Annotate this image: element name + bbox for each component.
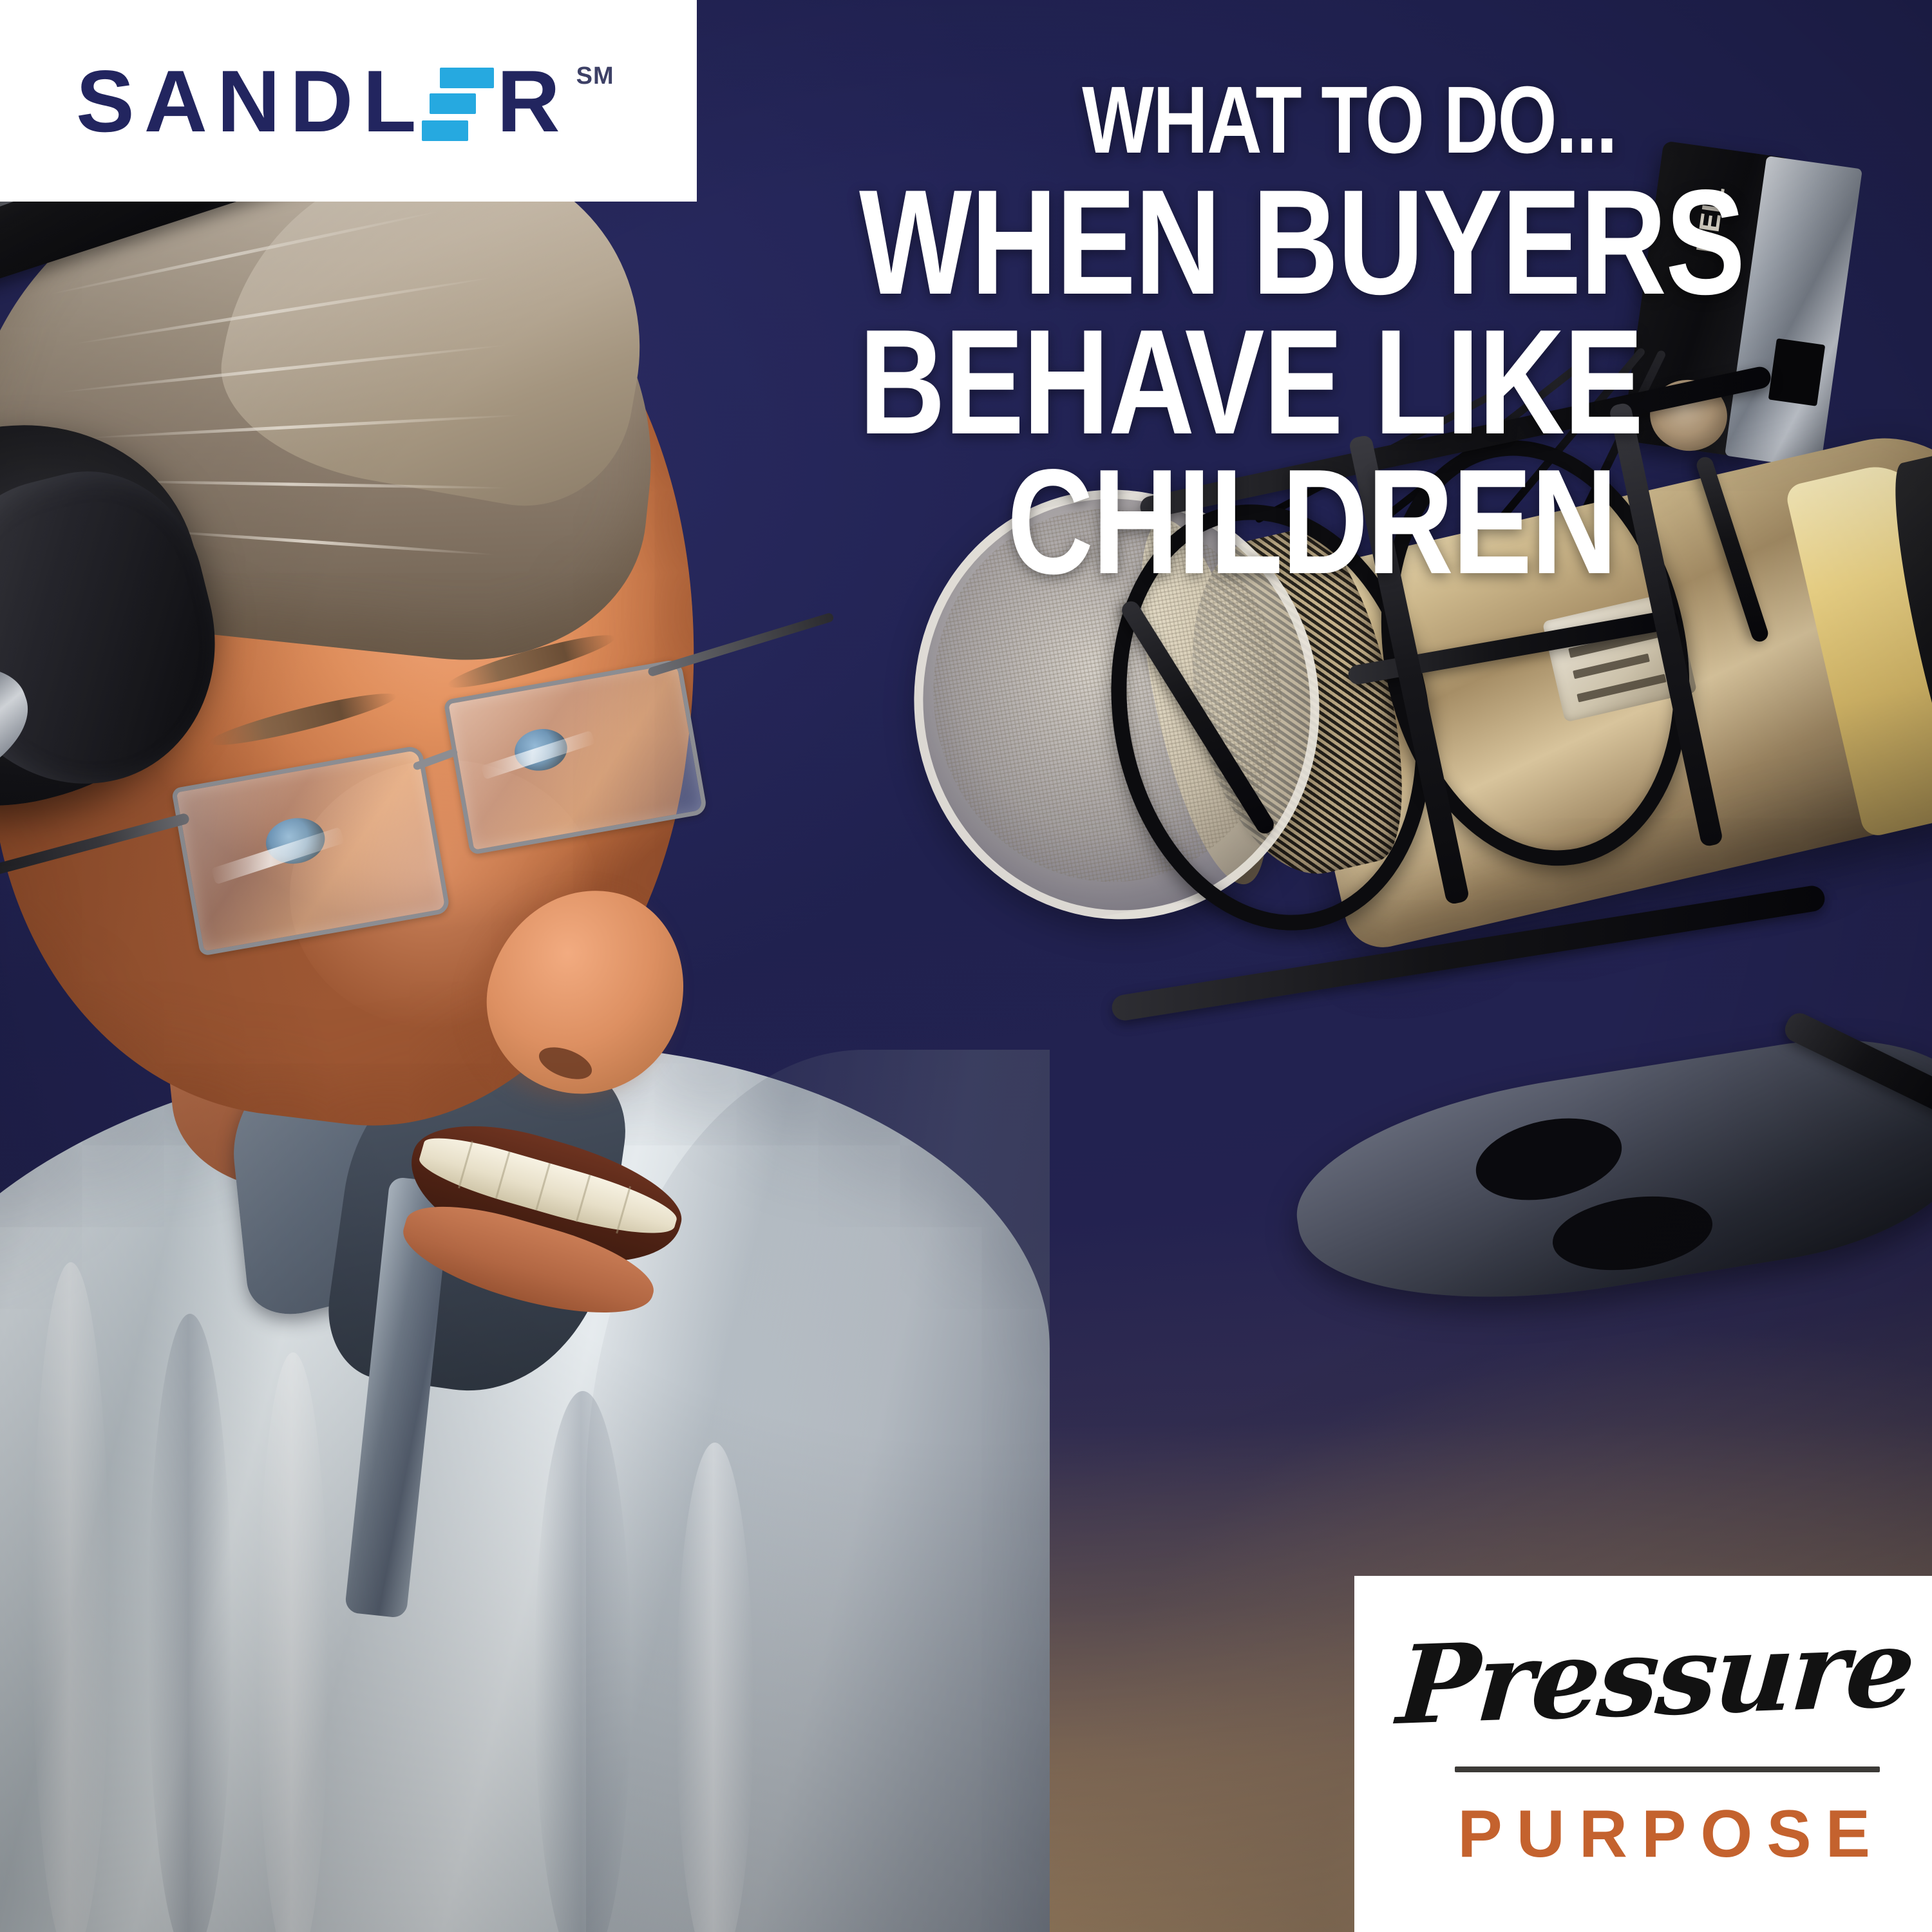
episode-title: WHAT TO DO... WHEN BUYERS BEHAVE LIKE CH… bbox=[670, 77, 1616, 590]
sandler-logo-badge: SANDL R SM bbox=[0, 0, 697, 202]
podcast-logo-badge: Pressure PURPOSE bbox=[1354, 1576, 1932, 1932]
podcast-logo-divider bbox=[1455, 1766, 1880, 1772]
title-line-2: WHEN BUYERS bbox=[859, 176, 1616, 310]
podcast-cover-art: HEIL bbox=[0, 0, 1932, 1932]
title-line-3: BEHAVE LIKE bbox=[859, 316, 1616, 450]
sandler-wordmark-head: SANDL bbox=[76, 57, 426, 145]
sandler-servicemark: SM bbox=[576, 62, 614, 90]
sandler-e-bars-icon bbox=[426, 57, 497, 145]
podcast-name-script: Pressure bbox=[1394, 1613, 1917, 1739]
sandler-logo: SANDL R SM bbox=[76, 57, 614, 145]
podcast-name-caps: PURPOSE bbox=[1392, 1801, 1887, 1868]
title-line-1: WHAT TO DO... bbox=[859, 77, 1616, 163]
sandler-wordmark-tail: R bbox=[497, 57, 569, 145]
title-line-4: CHILDREN bbox=[859, 455, 1616, 590]
